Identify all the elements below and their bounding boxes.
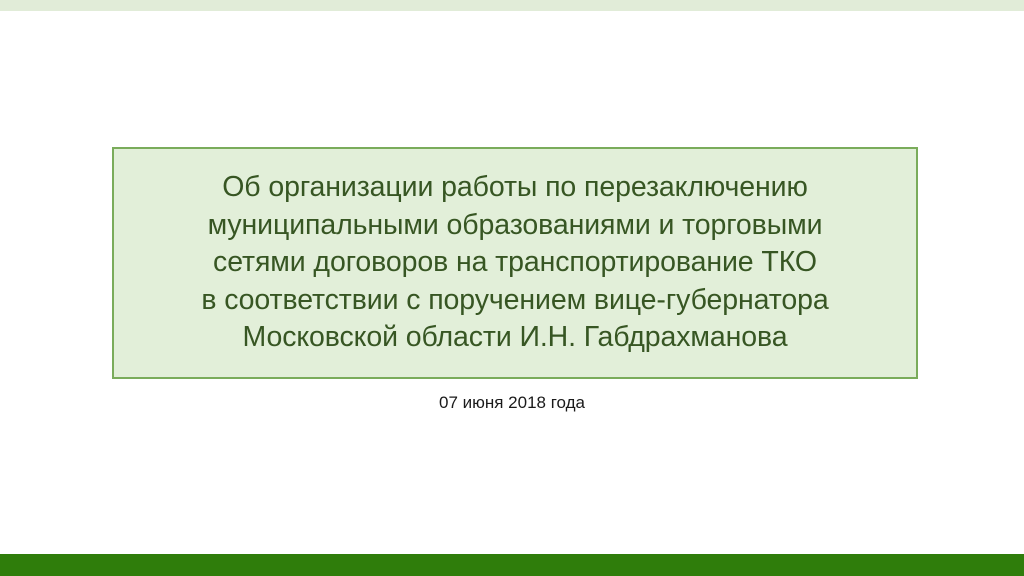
top-accent-strip [0, 0, 1024, 11]
slide-date: 07 июня 2018 года [0, 392, 1024, 414]
title-panel: Об организации работы по перезаключению … [112, 147, 918, 379]
title-line-3: сетями договоров на транспортирование ТК… [114, 244, 916, 282]
bottom-accent-bar [0, 554, 1024, 576]
title-line-1: Об организации работы по перезаключению [114, 169, 916, 207]
title-line-5: Московской области И.Н. Габдрахманова [114, 319, 916, 357]
title-line-2: муниципальными образованиями и торговыми [114, 207, 916, 245]
slide-canvas: Об организации работы по перезаключению … [0, 0, 1024, 576]
title-line-4: в соответствии с поручением вице-губерна… [114, 282, 916, 320]
